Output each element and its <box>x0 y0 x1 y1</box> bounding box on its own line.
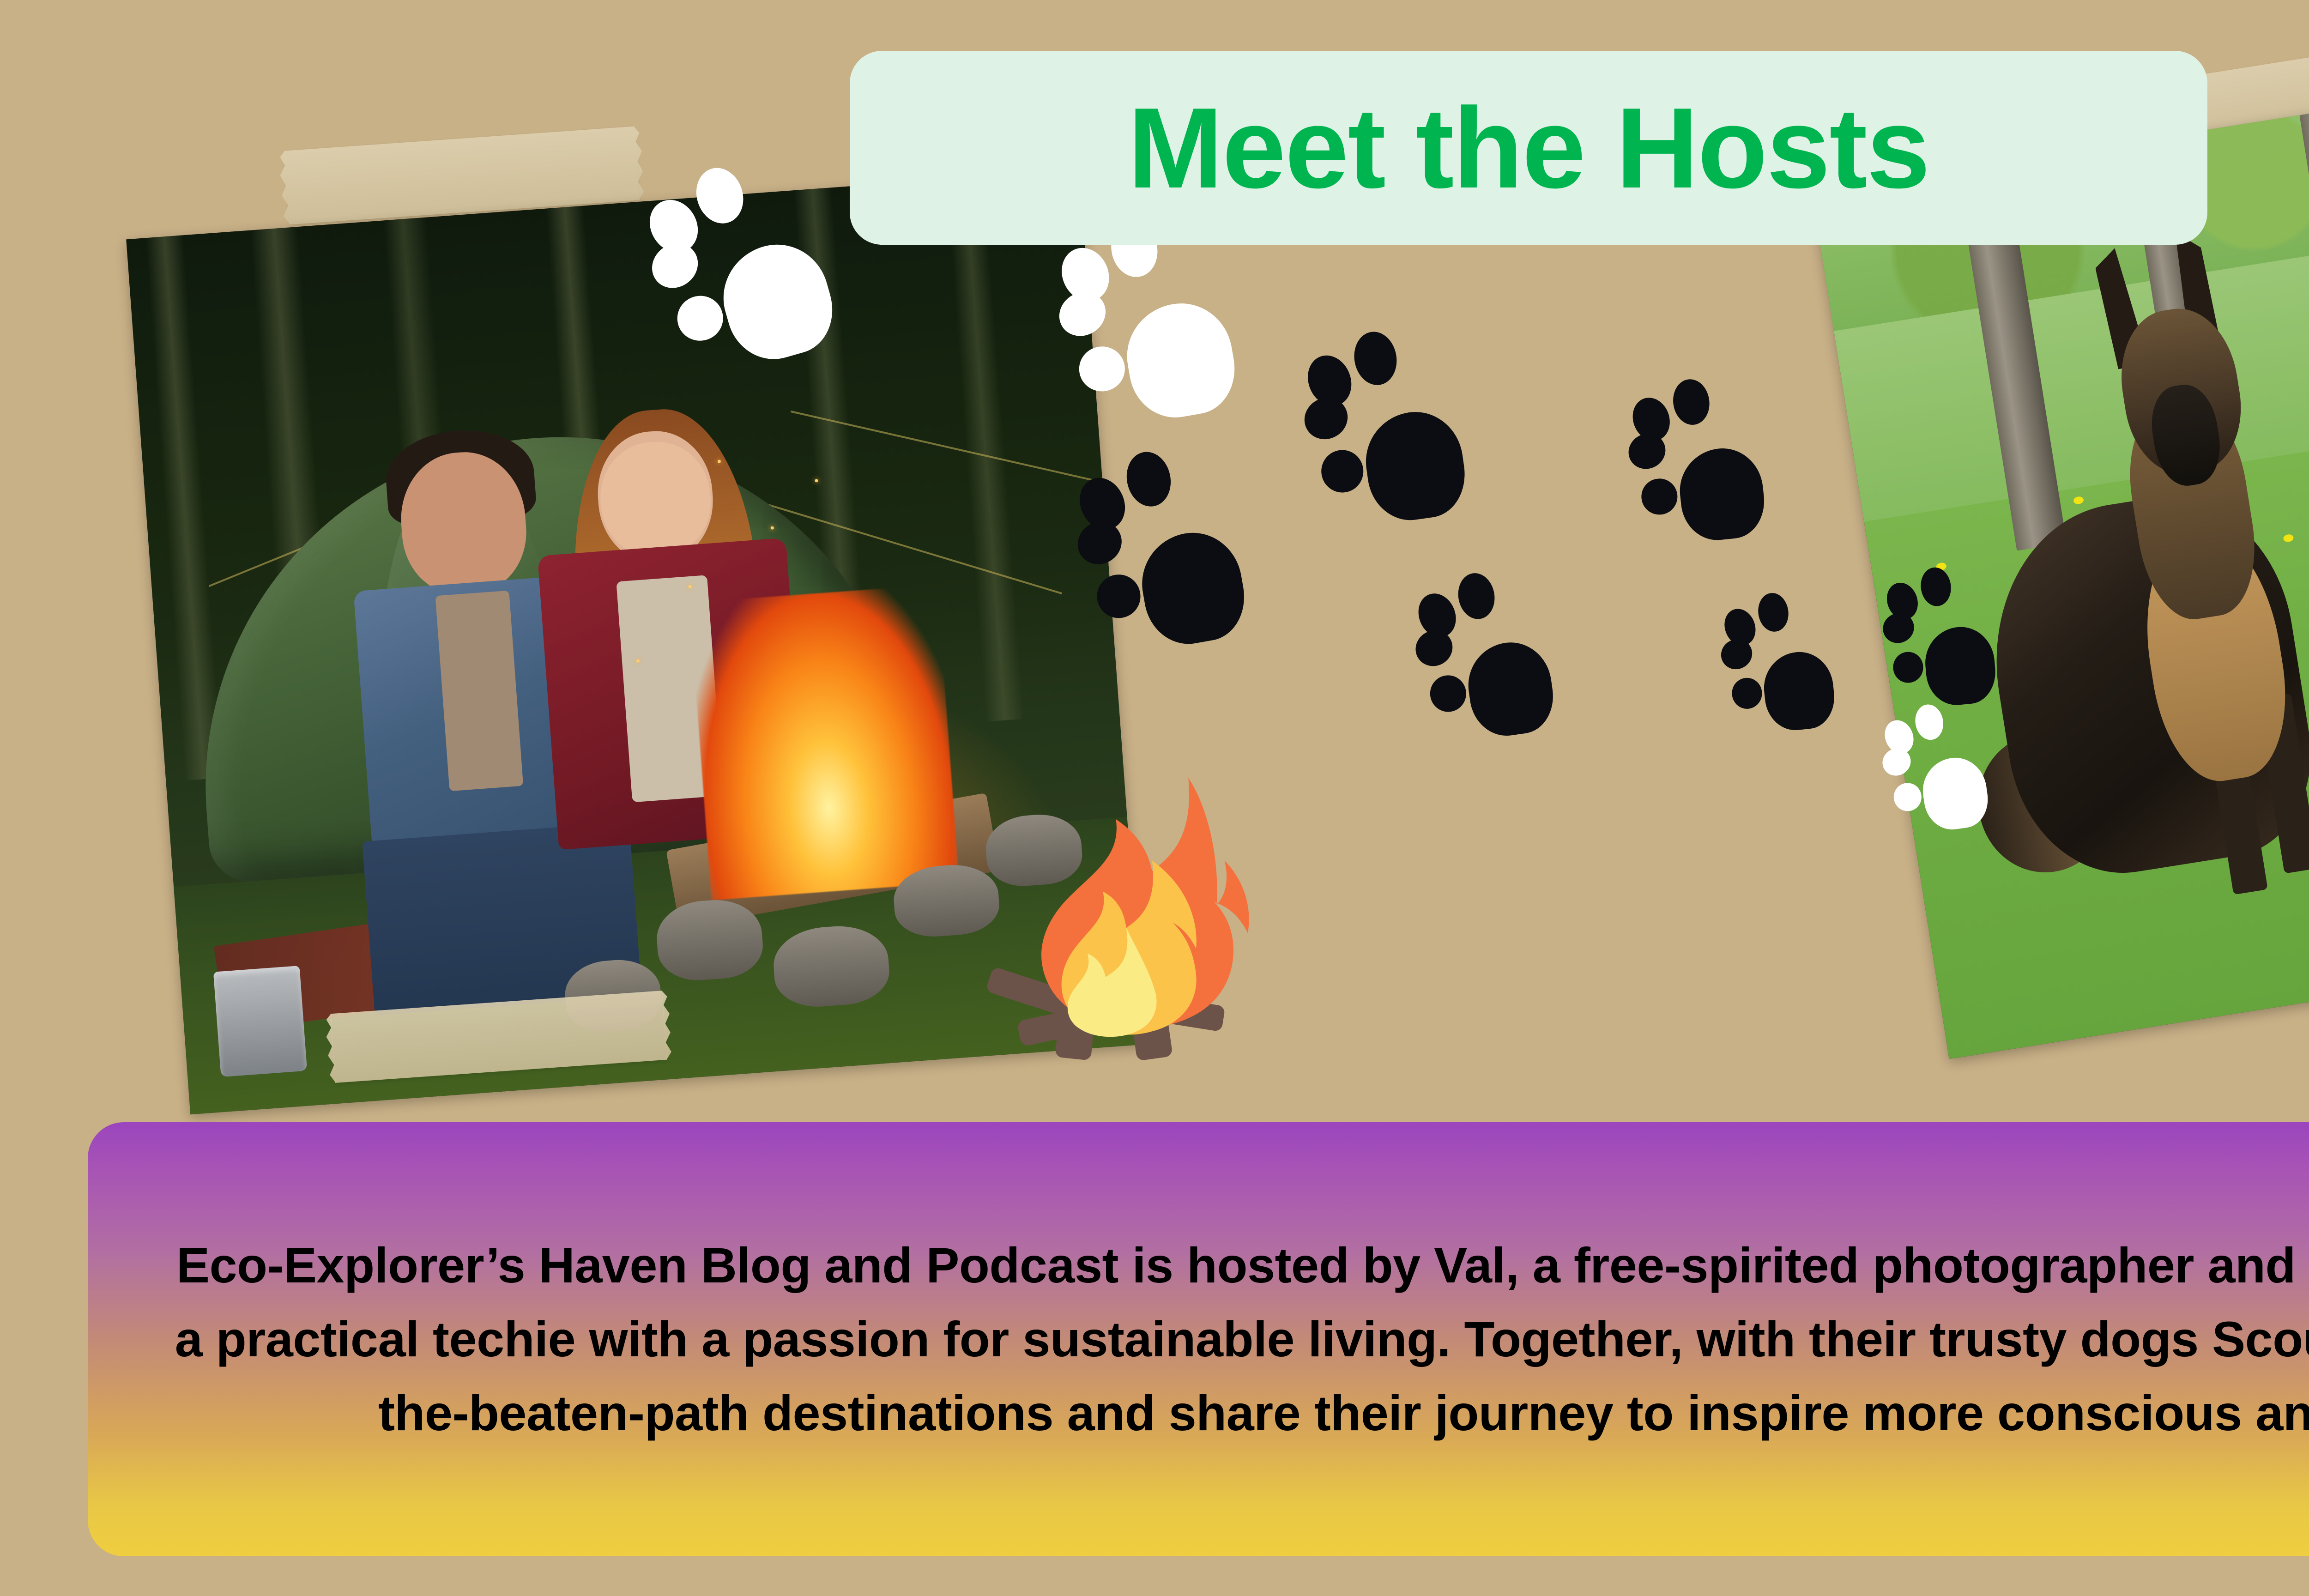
meet-the-hosts-banner: Meet the Hosts Eco-Explorer’s Haven Blog… <box>0 0 2309 1596</box>
paw-print-icon <box>1716 595 1845 740</box>
paw-print-icon <box>1046 217 1253 439</box>
paw-print-icon <box>1622 381 1777 551</box>
campfire-sticker <box>1002 767 1261 1053</box>
paw-print-icon <box>1065 449 1262 664</box>
paw-print-icon <box>1879 570 2005 714</box>
paw-print-icon <box>1295 332 1481 537</box>
page-title-banner: Meet the Hosts <box>850 51 2207 245</box>
about-hosts-panel: Eco-Explorer’s Haven Blog and Podcast is… <box>88 1122 2309 1556</box>
page-title: Meet the Hosts <box>1128 91 1929 205</box>
about-hosts-text: Eco-Explorer’s Haven Blog and Podcast is… <box>171 1228 2309 1450</box>
paw-print-icon <box>1876 704 1999 840</box>
paw-print-icon <box>1407 573 1566 750</box>
